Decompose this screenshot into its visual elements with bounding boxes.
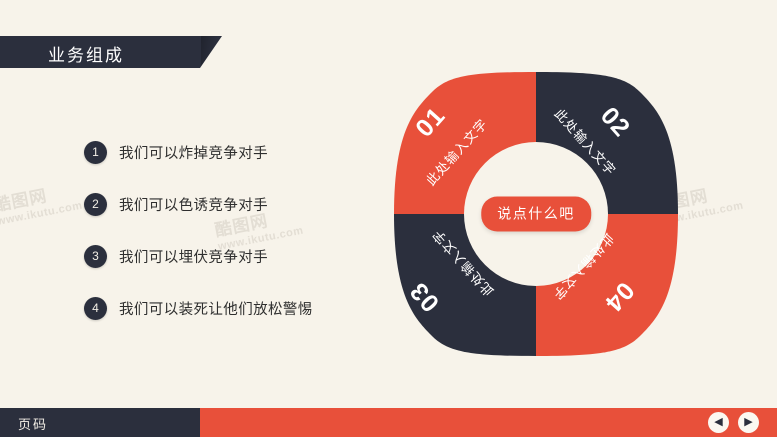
watermark-line2: www.ikutu.com bbox=[0, 200, 83, 228]
list-item-number: 1 bbox=[84, 141, 107, 164]
page-number-label: 页码 bbox=[18, 414, 48, 433]
donut-center-badge[interactable]: 说点什么吧 bbox=[481, 197, 591, 232]
donut-diagram: 01 此处输入文字 02 此处输入文字 03 此处输入文字 04 此处输入文字 … bbox=[392, 70, 680, 358]
slide-navigation: ◀ ▶ bbox=[708, 412, 759, 433]
list-item-number: 4 bbox=[84, 297, 107, 320]
list-item[interactable]: 2 我们可以色诱竞争对手 bbox=[84, 190, 364, 218]
list-item-label: 我们可以色诱竞争对手 bbox=[119, 194, 268, 215]
bullet-list: 1 我们可以炸掉竞争对手 2 我们可以色诱竞争对手 3 我们可以埋伏竞争对手 4… bbox=[84, 138, 364, 346]
list-item-number: 3 bbox=[84, 245, 107, 268]
list-item[interactable]: 3 我们可以埋伏竞争对手 bbox=[84, 242, 364, 270]
list-item-label: 我们可以炸掉竞争对手 bbox=[119, 142, 268, 163]
arrow-right-icon[interactable]: ▶ bbox=[738, 412, 759, 433]
list-item-label: 我们可以装死让他们放松警惕 bbox=[119, 298, 313, 319]
page-title-banner: 业务组成 bbox=[0, 36, 222, 68]
arrow-left-icon[interactable]: ◀ bbox=[708, 412, 729, 433]
list-item[interactable]: 4 我们可以装死让他们放松警惕 bbox=[84, 294, 364, 322]
watermark-line1: 酷图网 bbox=[0, 175, 81, 216]
list-item[interactable]: 1 我们可以炸掉竞争对手 bbox=[84, 138, 364, 166]
footer-bar: 页码 ◀ ▶ bbox=[0, 408, 777, 437]
watermark: 酷图网 www.ikutu.com bbox=[0, 175, 83, 228]
list-item-number: 2 bbox=[84, 193, 107, 216]
page-title: 业务组成 bbox=[48, 41, 124, 66]
list-item-label: 我们可以埋伏竞争对手 bbox=[119, 246, 268, 267]
